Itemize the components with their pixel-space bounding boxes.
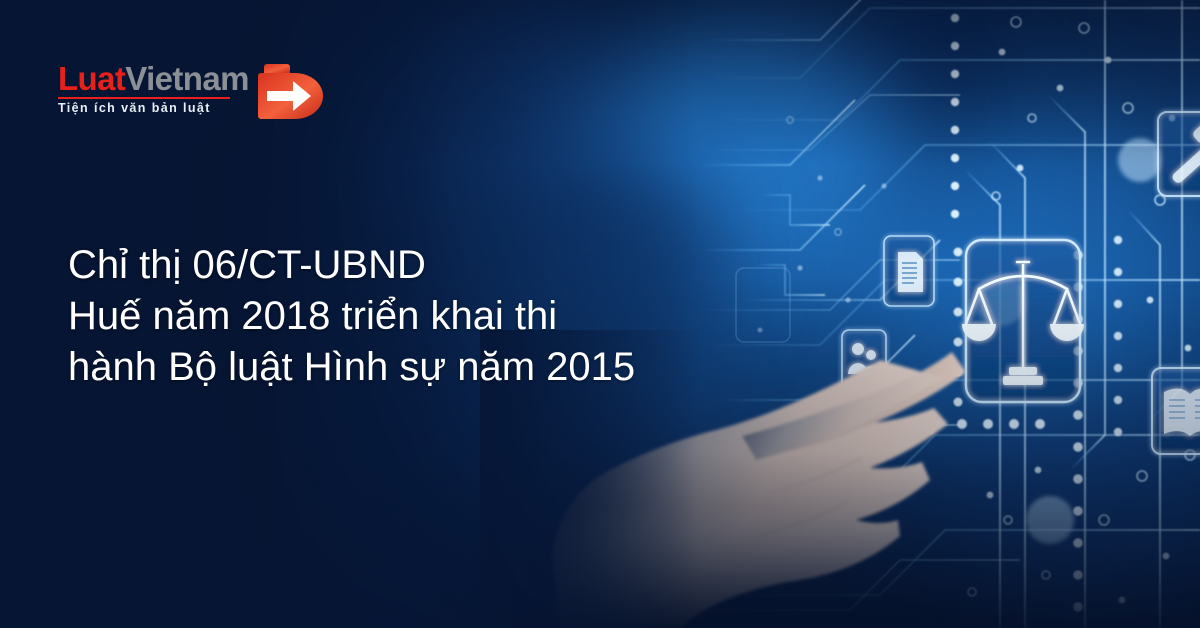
folder-arrow-right-icon[interactable]	[255, 60, 327, 122]
title-line-2: Huế năm 2018 triển khai thi	[68, 291, 635, 342]
logo-divider	[58, 97, 230, 99]
banner-canvas: LuatVietnam Tiện ích văn bản luật Chỉ th…	[0, 0, 1200, 628]
page-title: Chỉ thị 06/CT-UBND Huế năm 2018 triển kh…	[68, 240, 635, 393]
logo-wordmark: LuatVietnam Tiện ích văn bản luật	[58, 58, 249, 115]
title-line-3: hành Bộ luật Hình sự năm 2015	[68, 342, 635, 393]
title-line-1: Chỉ thị 06/CT-UBND	[68, 240, 635, 291]
logo-word-secondary: Vietnam	[125, 60, 249, 97]
logo[interactable]: LuatVietnam Tiện ích văn bản luật	[58, 58, 327, 122]
logo-word-primary: Luat	[58, 60, 125, 97]
logo-word-row: LuatVietnam	[58, 62, 249, 95]
logo-tagline: Tiện ích văn bản luật	[58, 101, 249, 115]
